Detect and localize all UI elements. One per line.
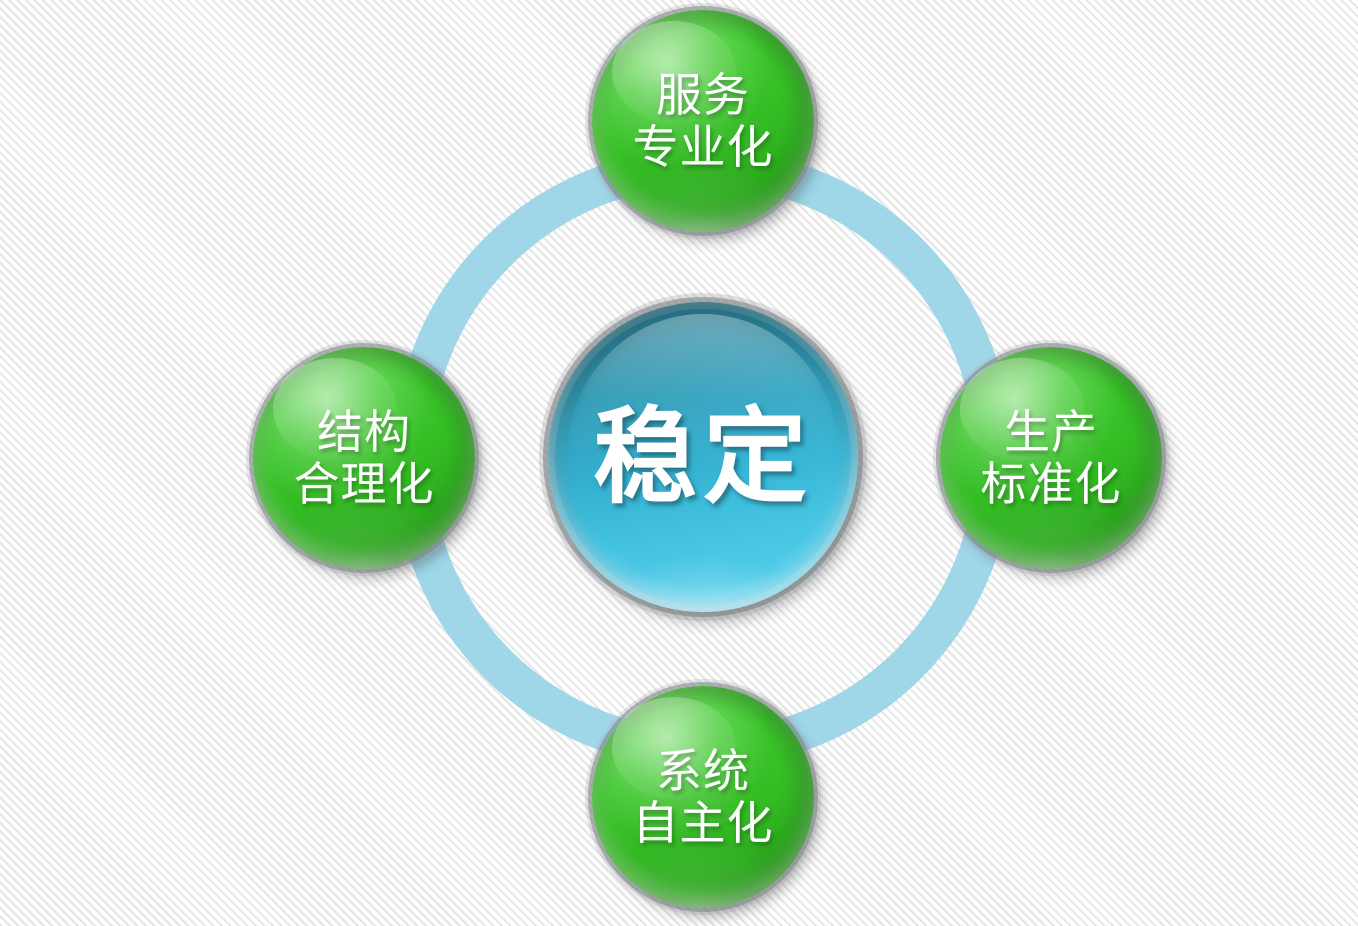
- node-right-label-line2: 标准化: [981, 458, 1122, 510]
- node-left-label: 结构 合理化: [253, 347, 475, 569]
- node-right-label: 生产 标准化: [940, 347, 1162, 569]
- node-top-service[interactable]: 服务 专业化: [592, 10, 814, 232]
- node-bottom-system[interactable]: 系统 自主化: [592, 686, 814, 908]
- node-left-structure[interactable]: 结构 合理化: [253, 347, 475, 569]
- node-bottom-label-line1: 系统: [656, 745, 750, 797]
- node-right-label-line1: 生产: [1004, 406, 1098, 458]
- hub-label: 稳定: [548, 302, 858, 612]
- node-bottom-label-line2: 自主化: [633, 797, 774, 849]
- node-right-production[interactable]: 生产 标准化: [940, 347, 1162, 569]
- diagram-canvas: 服务 专业化 生产 标准化 系统 自主化 结构 合理化 稳定: [0, 0, 1358, 926]
- node-top-label-line2: 专业化: [633, 121, 774, 173]
- node-top-label: 服务 专业化: [592, 10, 814, 232]
- node-left-label-line2: 合理化: [294, 458, 435, 510]
- node-top-label-line1: 服务: [656, 69, 750, 121]
- hub-center-stability[interactable]: 稳定: [548, 302, 858, 612]
- node-left-label-line1: 结构: [317, 406, 411, 458]
- node-bottom-label: 系统 自主化: [592, 686, 814, 908]
